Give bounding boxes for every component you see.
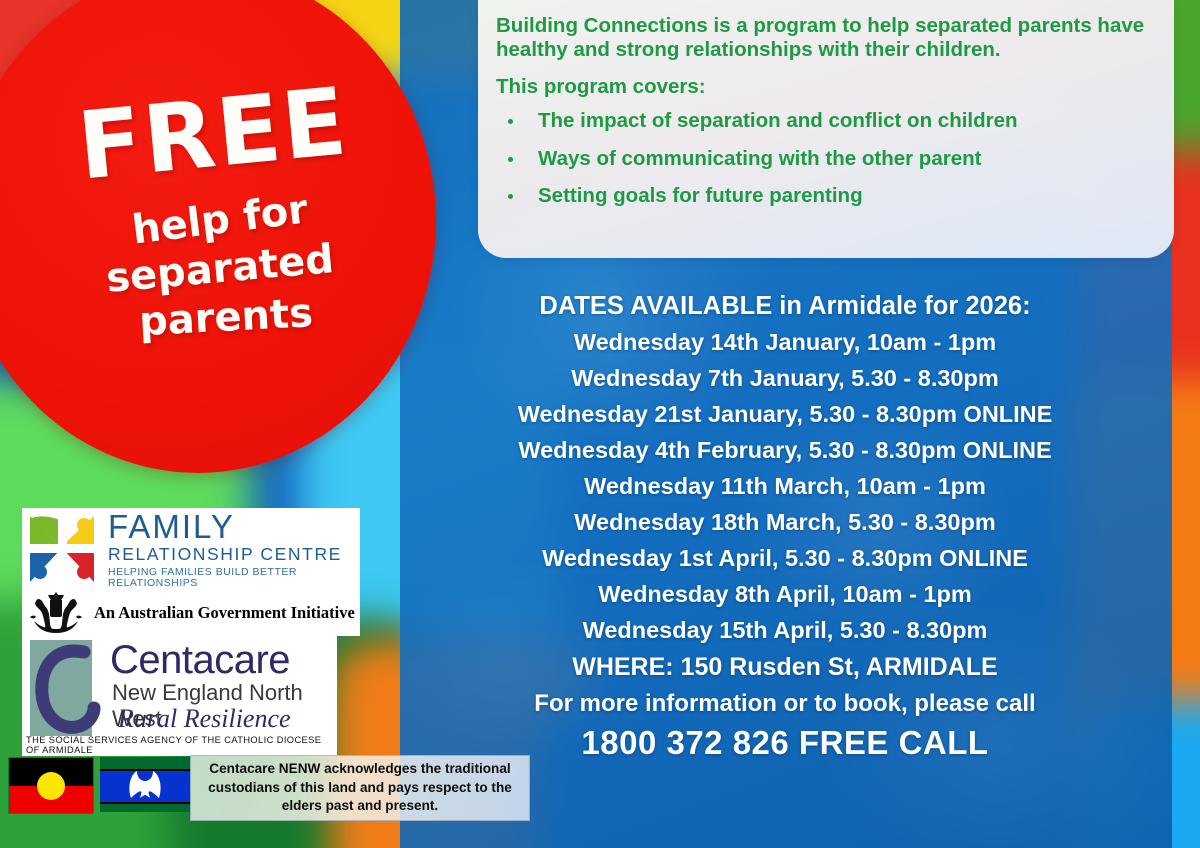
schedule-date: Wednesday 14th January, 10am - 1pm [404, 329, 1166, 356]
centacare-program-name: Rural Resilience [118, 704, 291, 734]
commonwealth-coat-of-arms-icon [28, 591, 84, 635]
program-intro-text: Building Connections is a program to hel… [496, 14, 1152, 62]
program-covers-label: This program covers: [496, 75, 1152, 99]
free-subheadline: help for separated parents [60, 196, 380, 342]
torres-strait-islander-flag-icon [100, 757, 190, 812]
frc-people-pinwheel-icon [26, 512, 100, 586]
schedule-date: Wednesday 4th February, 5.30 - 8.30pm ON… [404, 437, 1166, 464]
acknowledgement-of-country-box: Centacare NENW acknowledges the traditio… [190, 755, 530, 821]
schedule-heading: DATES AVAILABLE in Armidale for 2026: [404, 292, 1166, 321]
program-info-card: Building Connections is a program to hel… [478, 0, 1174, 258]
free-headline: FREE [45, 74, 382, 194]
venue-address: WHERE: 150 Rusden St, ARMIDALE [404, 653, 1166, 682]
topic-text: The impact of separation and conflict on… [538, 109, 1018, 132]
centacare-c-swoosh-icon [32, 642, 108, 734]
bullet-dot-icon [508, 119, 513, 124]
bullet-dot-icon [508, 157, 513, 162]
list-item: Ways of communicating with the other par… [496, 148, 1152, 171]
topic-text: Setting goals for future parenting [538, 184, 863, 207]
schedule-date: Wednesday 21st January, 5.30 - 8.30pm ON… [404, 401, 1166, 428]
centacare-wordmark: Centacare [110, 638, 290, 683]
list-item: The impact of separation and conflict on… [496, 110, 1152, 133]
frc-wordmark: FAMILY RELATIONSHIP CENTRE HELPING FAMIL… [108, 510, 360, 589]
aboriginal-flag-yellow-sun [37, 772, 65, 800]
program-topics-list: The impact of separation and conflict on… [496, 110, 1152, 208]
list-item: Setting goals for future parenting [496, 185, 1152, 208]
family-relationship-centre-logo: FAMILY RELATIONSHIP CENTRE HELPING FAMIL… [22, 508, 360, 590]
schedule-date: Wednesday 18th March, 5.30 - 8.30pm [404, 509, 1166, 536]
centacare-footer-text: THE SOCIAL SERVICES AGENCY OF THE CATHOL… [26, 735, 337, 755]
schedule-date: Wednesday 15th April, 5.30 - 8.30pm [404, 617, 1166, 644]
centacare-logo: Centacare New England North West Rural R… [22, 636, 337, 756]
schedule-block: DATES AVAILABLE in Armidale for 2026: We… [404, 292, 1166, 762]
bullet-dot-icon [508, 194, 513, 199]
booking-instruction: For more information or to book, please … [404, 690, 1166, 718]
frc-tagline: HELPING FAMILIES BUILD BETTER RELATIONSH… [108, 567, 360, 588]
acknowledgement-text: Centacare NENW acknowledges the traditio… [191, 760, 529, 815]
schedule-date: Wednesday 7th January, 5.30 - 8.30pm [404, 365, 1166, 392]
topic-text: Ways of communicating with the other par… [538, 147, 981, 170]
frc-line-1: FAMILY [108, 510, 360, 543]
poster: Building Connections is a program to hel… [0, 0, 1200, 848]
australian-government-row: An Australian Government Initiative [22, 590, 360, 636]
schedule-date: Wednesday 11th March, 10am - 1pm [404, 473, 1166, 500]
aboriginal-flag-icon [8, 757, 94, 814]
tsi-flag-dhari-star-icon [125, 768, 165, 802]
schedule-date: Wednesday 8th April, 10am - 1pm [404, 581, 1166, 608]
frc-line-2: RELATIONSHIP CENTRE [108, 546, 360, 564]
schedule-date: Wednesday 1st April, 5.30 - 8.30pm ONLIN… [404, 545, 1166, 572]
government-initiative-text: An Australian Government Initiative [94, 603, 355, 623]
